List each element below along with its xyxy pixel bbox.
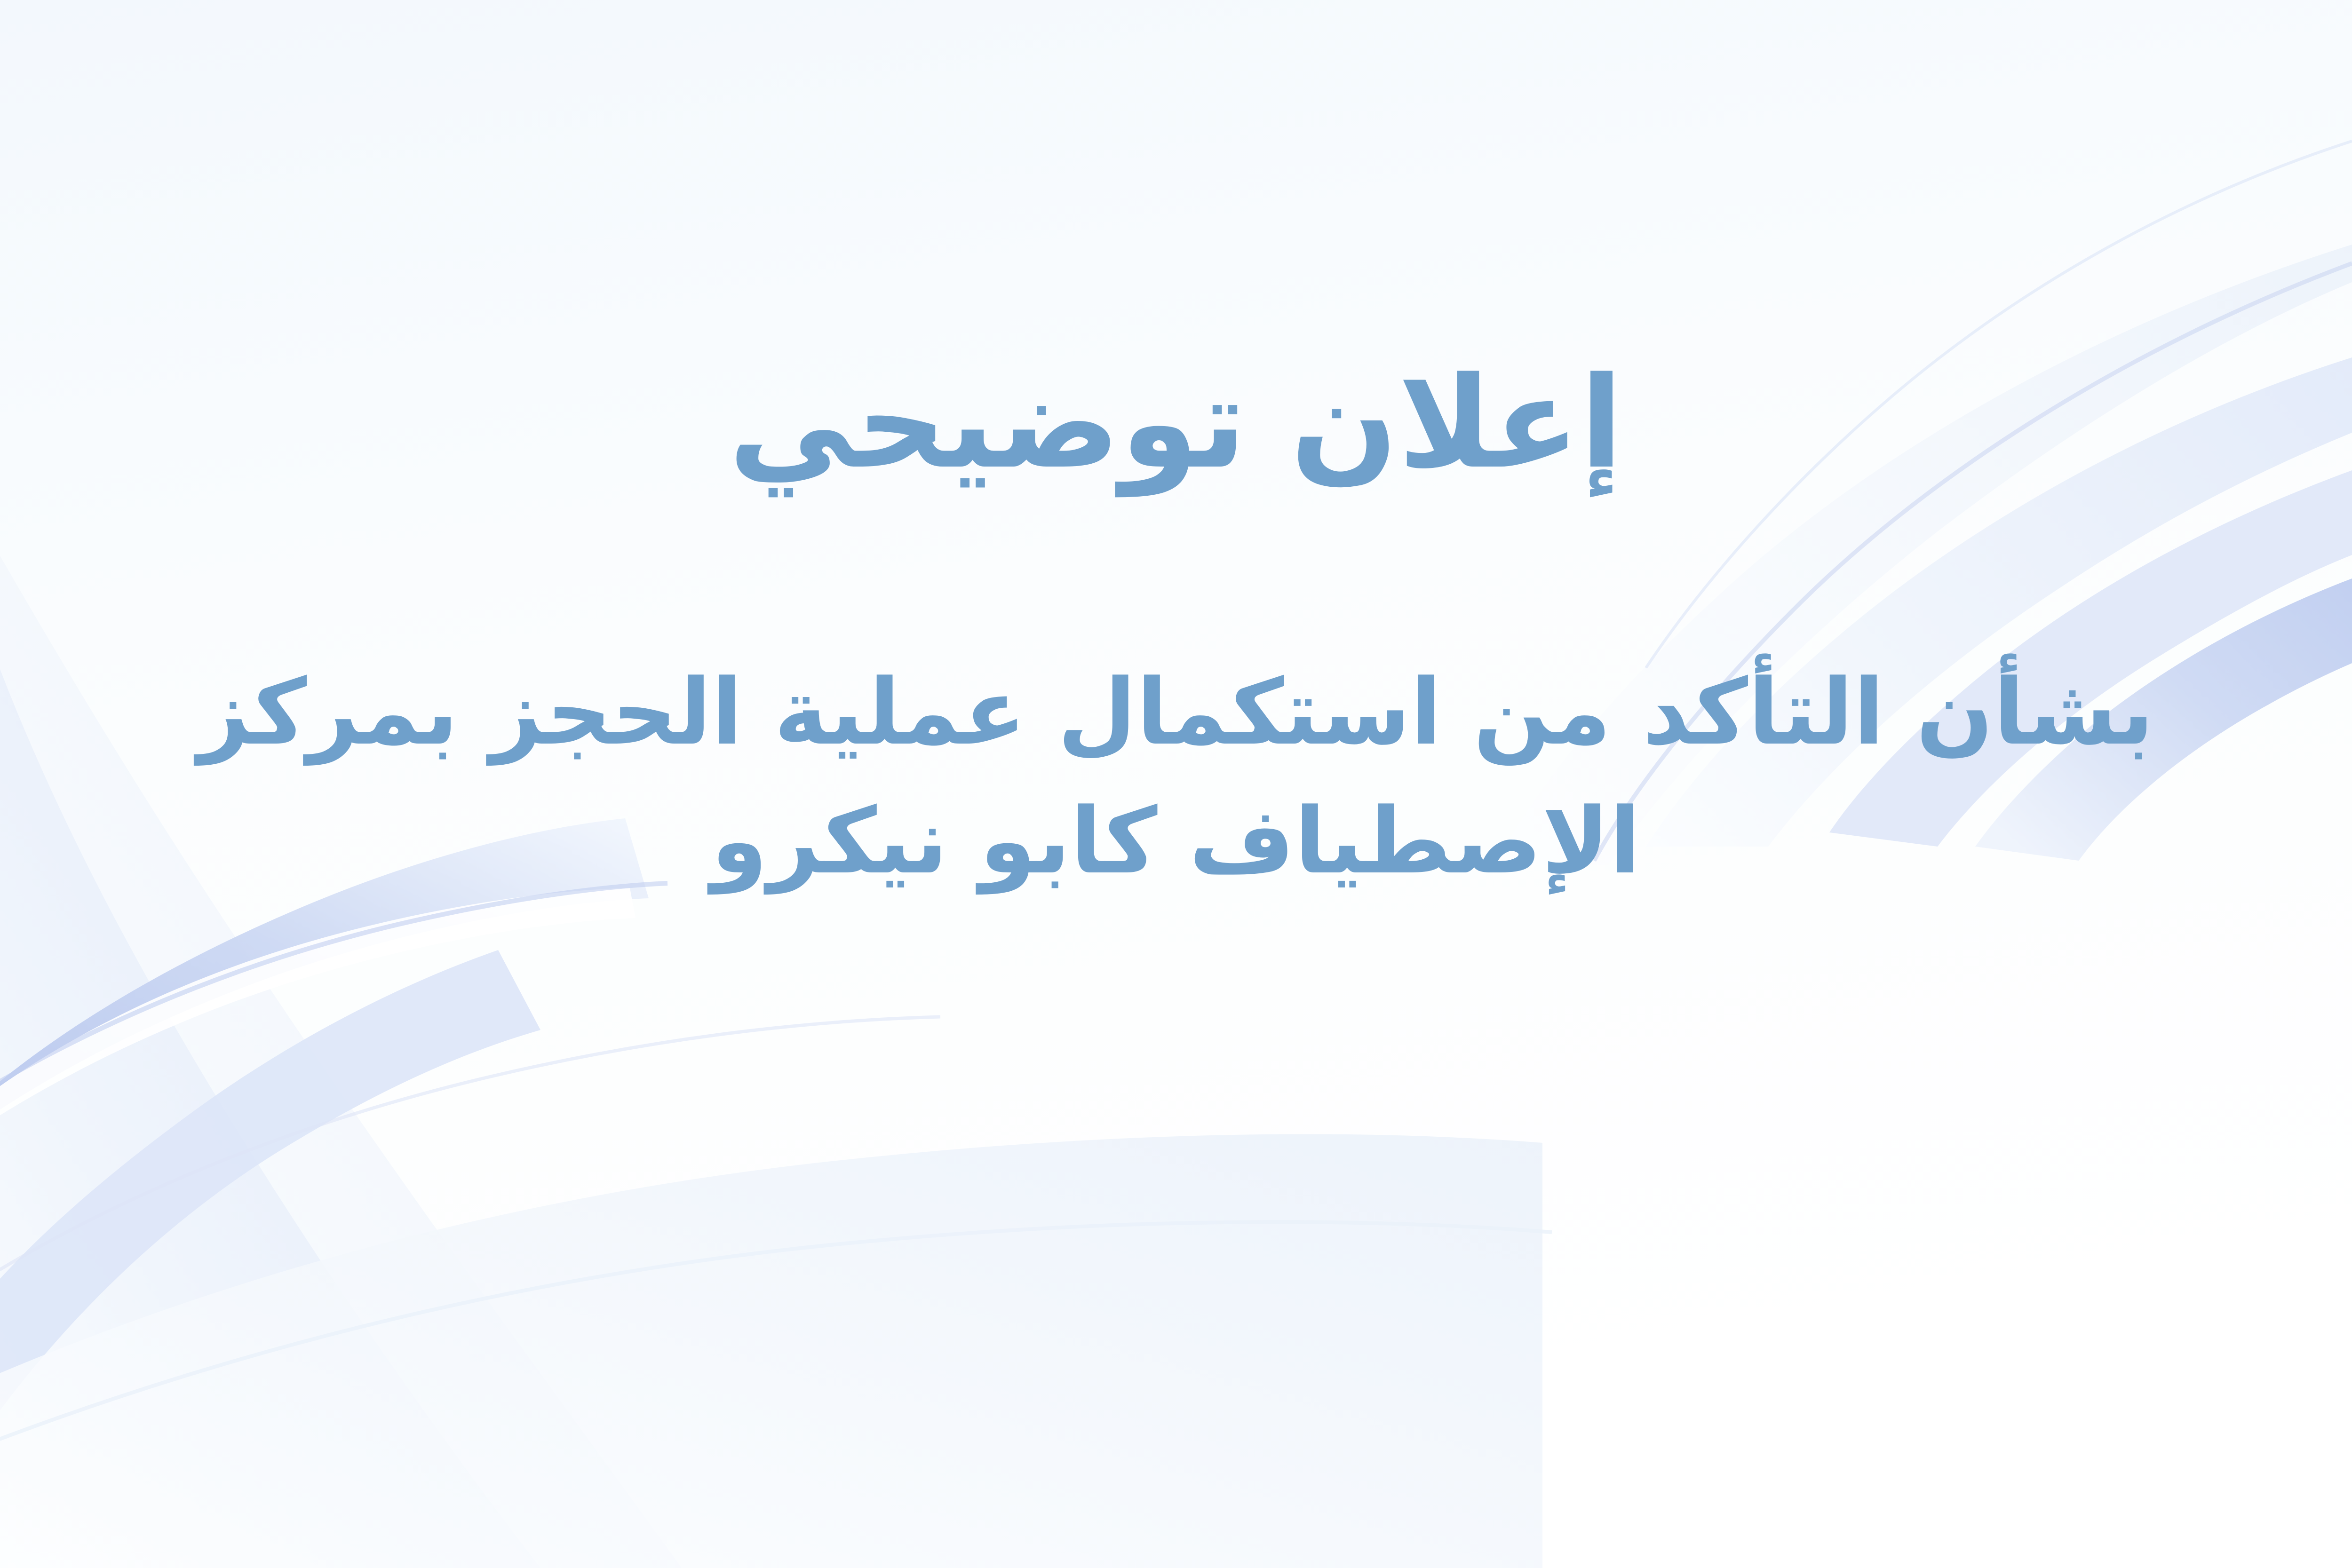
slide-content: إعلان توضيحي بشأن التأكد من استكمال عملي… (0, 0, 2352, 1568)
presentation-slide: إعلان توضيحي بشأن التأكد من استكمال عملي… (0, 0, 2352, 1568)
body-block: بشأن التأكد من استكمال عملية الحجز بمركز… (117, 648, 2234, 906)
slide-body-line-2: الإصطياف كابو نيكرو (117, 777, 2234, 906)
title-block: إعلان توضيحي (0, 357, 2352, 490)
slide-body-line-1: بشأن التأكد من استكمال عملية الحجز بمركز (117, 648, 2234, 777)
slide-title: إعلان توضيحي (0, 357, 2352, 490)
